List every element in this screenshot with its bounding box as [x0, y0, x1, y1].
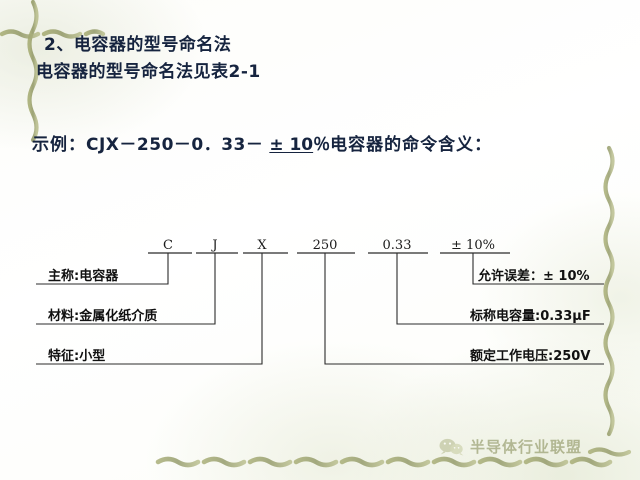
example-prefix-label: 示例： [32, 135, 86, 155]
right-label-group: 允许误差：± 10% 标称电容量:0.33μF 额定工作电压:250V [469, 268, 591, 364]
naming-breakdown-diagram: C J X 250 0.33 ± 10% [0, 200, 640, 390]
example-line: 示例：CJX－250－0．33－ ± 10％电容器的命令含义： [32, 130, 492, 155]
example-percent-symbol: ％ [313, 135, 330, 155]
wechat-icon [438, 437, 464, 457]
example-code-text: CJX－250－0．33－ [86, 135, 263, 155]
code-symbol-x: X [257, 238, 267, 253]
left-label-feature: 特征:小型 [48, 348, 105, 364]
code-drop-ticks [168, 253, 473, 263]
slide-canvas: 2、电容器的型号命名法 电容器的型号命名法见表2-1 示例：CJX－250－0．… [0, 0, 640, 480]
watermark: 半导体行业联盟 [438, 436, 582, 457]
right-label-capacitance: 标称电容量:0.33μF [469, 308, 591, 324]
code-symbol-j: J [210, 238, 217, 253]
page-title: 2、电容器的型号命名法 [44, 30, 231, 55]
code-value-capacitance: 0.33 [383, 238, 412, 253]
code-symbol-c: C [163, 238, 173, 253]
code-value-tolerance: ± 10% [451, 238, 495, 253]
example-tolerance-text: ± 10 [269, 135, 313, 155]
example-suffix-label: 电容器的命令含义： [330, 135, 492, 155]
left-label-group: 主称:电容器 材料:金属化纸介质 特征:小型 [48, 268, 157, 364]
page-subtitle: 电容器的型号命名法见表2-1 [36, 57, 261, 82]
left-label-material: 材料:金属化纸介质 [48, 308, 157, 324]
code-row: C J X 250 0.33 ± 10% [148, 238, 510, 263]
right-label-tolerance: 允许误差：± 10% [477, 268, 590, 284]
right-label-voltage: 额定工作电压:250V [470, 348, 590, 364]
deco-crossbar-right [590, 450, 629, 455]
code-value-voltage: 250 [313, 238, 338, 253]
watermark-text: 半导体行业联盟 [470, 436, 582, 457]
deco-wave-bottom [158, 459, 610, 465]
left-label-main-name: 主称:电容器 [48, 268, 119, 284]
